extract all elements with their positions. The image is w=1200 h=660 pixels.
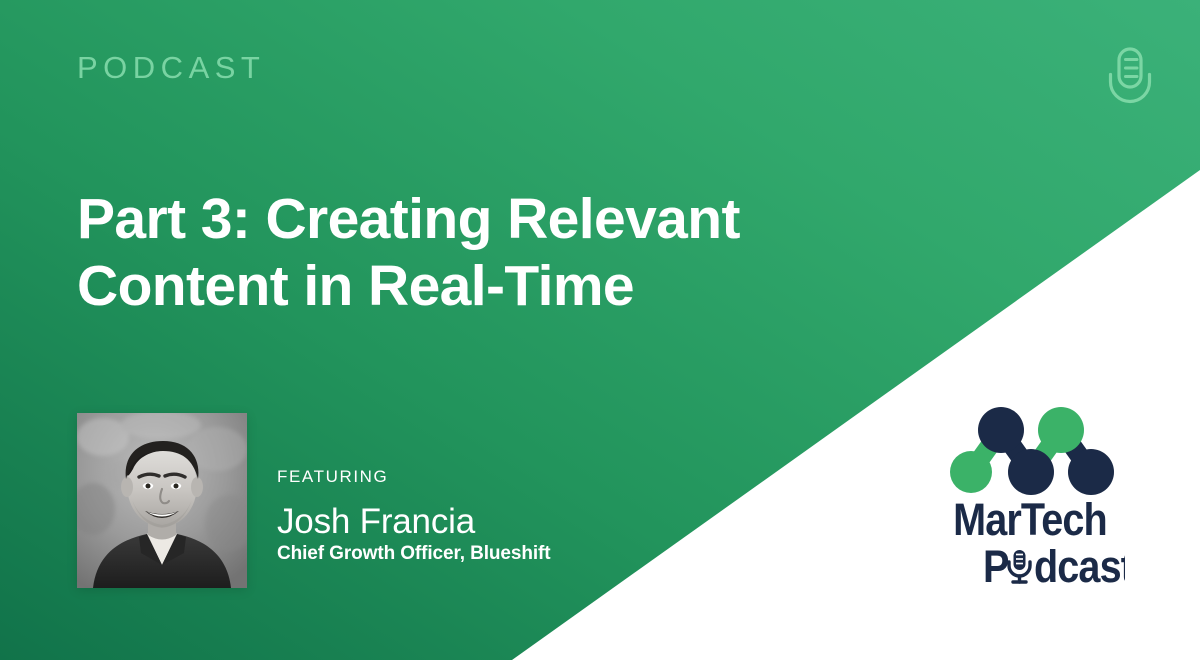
speaker-role: Chief Growth Officer, Blueshift xyxy=(277,544,550,565)
martech-podcast-logo: MarTech P dcast xyxy=(935,398,1125,588)
logo-wordmark-podcast-prefix: P xyxy=(983,542,1009,588)
podcast-eyebrow-label: PODCAST xyxy=(77,52,265,83)
speaker-headshot-photo xyxy=(77,413,247,588)
episode-title: Part 3: Creating Relevant Content in Rea… xyxy=(77,186,837,319)
logo-wordmark-martech: MarTech xyxy=(953,495,1107,545)
martech-node-m-icon xyxy=(950,407,1114,495)
logo-wordmark-podcast-suffix: dcast xyxy=(1034,542,1125,588)
featuring-block: FEATURING Josh Francia Chief Growth Offi… xyxy=(277,468,550,565)
episode-title-line-1: Part 3: Creating Relevant xyxy=(77,186,837,253)
featuring-label: FEATURING xyxy=(277,468,550,485)
speaker-name: Josh Francia xyxy=(277,504,550,540)
episode-title-line-2: Content in Real-Time xyxy=(77,253,837,320)
podcast-episode-card: PODCAST Part 3: Creating Relevant Conten… xyxy=(0,0,1200,660)
microphone-icon xyxy=(1009,550,1030,582)
microphone-icon xyxy=(1104,46,1156,112)
